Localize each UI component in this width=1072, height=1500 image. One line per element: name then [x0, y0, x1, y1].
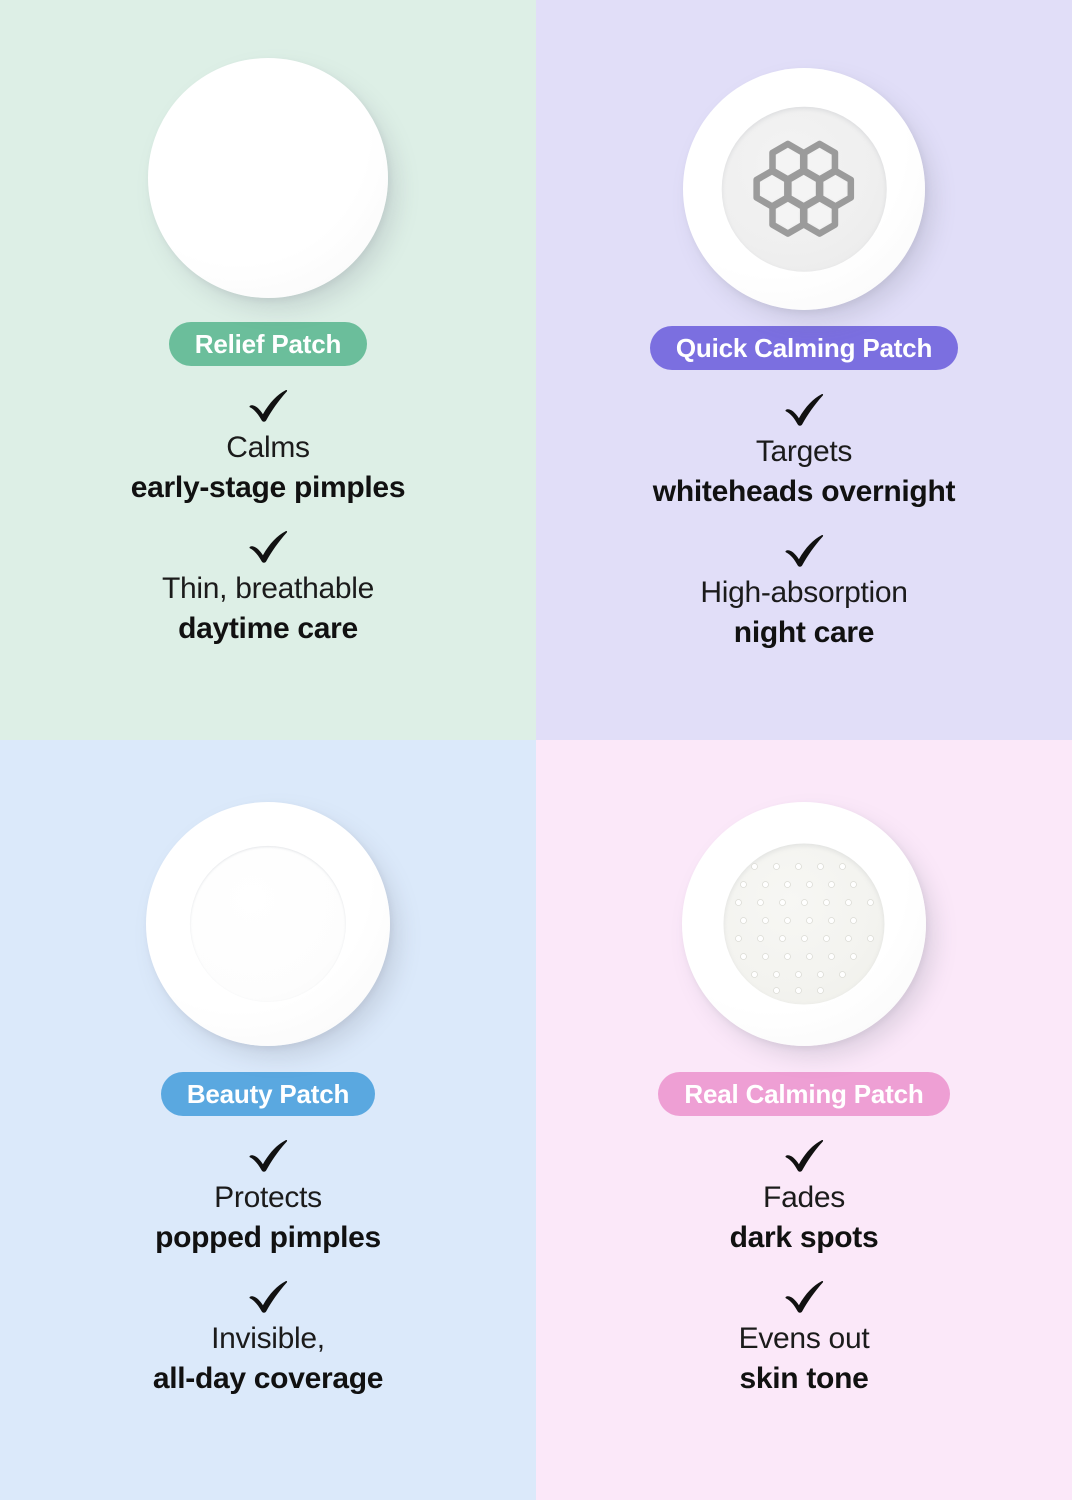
benefit-text-bold: early-stage pimples	[131, 468, 405, 508]
honeycomb-round-patch-icon	[683, 68, 925, 310]
benefit-item: Evens out skin tone	[739, 1279, 870, 1398]
check-icon	[783, 533, 825, 567]
benefit-text-light: Targets	[653, 432, 955, 472]
check-icon	[247, 529, 289, 563]
status-badge-relief-patch: Relief Patch	[169, 322, 367, 366]
benefit-text-light: Calms	[131, 428, 405, 468]
microneedle-dot-grid-icon	[724, 844, 884, 1004]
product-image-beauty-patch	[146, 802, 390, 1046]
check-icon	[783, 1279, 825, 1313]
patch-inner-well	[723, 843, 884, 1004]
status-badge-quick-calming-patch: Quick Calming Patch	[650, 326, 958, 370]
patch-inner-well	[722, 107, 887, 272]
benefit-item: Invisible, all-day coverage	[153, 1279, 383, 1398]
benefit-text-light: Protects	[155, 1178, 381, 1218]
quadrant-quick-calming-patch: Quick Calming Patch Targets whiteheads o…	[536, 0, 1072, 740]
plain-round-patch-icon	[148, 58, 388, 298]
benefit-list-beauty-patch: Protects popped pimples Invisible, all-d…	[0, 1116, 536, 1398]
benefit-item: Targets whiteheads overnight	[653, 392, 955, 511]
patch-inner-ring	[190, 846, 346, 1002]
benefit-text-bold: daytime care	[162, 609, 374, 649]
benefit-text-light: Invisible,	[153, 1319, 383, 1359]
check-icon	[247, 1138, 289, 1172]
title-badge-row: Relief Patch	[169, 322, 367, 366]
benefit-list-relief-patch: Calms early-stage pimples Thin, breathab…	[0, 366, 536, 648]
quadrant-beauty-patch: Beauty Patch Protects popped pimples Inv…	[0, 740, 536, 1500]
check-icon	[247, 1279, 289, 1313]
product-image-quick-calming-patch	[683, 68, 925, 310]
benefit-text-bold: dark spots	[730, 1218, 879, 1258]
benefit-text-bold: skin tone	[739, 1359, 870, 1399]
quadrant-real-calming-patch: Real Calming Patch Fades dark spots Even…	[536, 740, 1072, 1500]
benefit-item: High-absorption night care	[700, 533, 907, 652]
quadrant-relief-patch: Relief Patch Calms early-stage pimples T…	[0, 0, 536, 740]
benefit-item: Fades dark spots	[730, 1138, 879, 1257]
benefit-item: Protects popped pimples	[155, 1138, 381, 1257]
product-image-real-calming-patch	[682, 802, 926, 1046]
benefit-item: Thin, breathable daytime care	[162, 529, 374, 648]
status-badge-real-calming-patch: Real Calming Patch	[658, 1072, 949, 1116]
benefit-text-light: Fades	[730, 1178, 879, 1218]
product-image-relief-patch	[148, 58, 388, 298]
benefit-text-bold: whiteheads overnight	[653, 472, 955, 512]
benefit-text-light: Thin, breathable	[162, 569, 374, 609]
check-icon	[247, 388, 289, 422]
microneedle-round-patch-icon	[682, 802, 926, 1046]
title-badge-row: Real Calming Patch	[658, 1072, 949, 1116]
ringed-round-patch-icon	[146, 802, 390, 1046]
honeycomb-cluster-icon	[748, 133, 860, 245]
patch-comparison-grid: Relief Patch Calms early-stage pimples T…	[0, 0, 1072, 1500]
benefit-list-quick-calming-patch: Targets whiteheads overnight High-absorp…	[536, 370, 1072, 652]
check-icon	[783, 1138, 825, 1172]
title-badge-row: Quick Calming Patch	[650, 326, 958, 370]
benefit-text-bold: night care	[700, 613, 907, 653]
check-icon	[783, 392, 825, 426]
benefit-text-light: Evens out	[739, 1319, 870, 1359]
benefit-list-real-calming-patch: Fades dark spots Evens out skin tone	[536, 1116, 1072, 1398]
title-badge-row: Beauty Patch	[161, 1072, 375, 1116]
benefit-text-bold: popped pimples	[155, 1218, 381, 1258]
status-badge-beauty-patch: Beauty Patch	[161, 1072, 375, 1116]
benefit-item: Calms early-stage pimples	[131, 388, 405, 507]
benefit-text-light: High-absorption	[700, 573, 907, 613]
benefit-text-bold: all-day coverage	[153, 1359, 383, 1399]
